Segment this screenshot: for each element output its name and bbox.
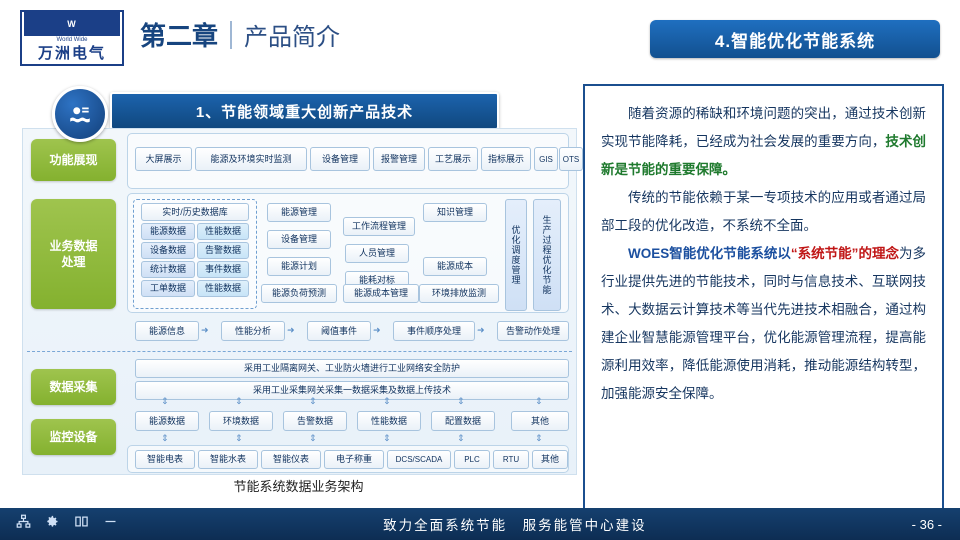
cell-device-manage-2[interactable]: 设备管理 [267, 230, 331, 249]
p1-text-a: 随着资源的稀缺和环境问题的突出，通过技术创新实现节能降耗，已经成为社会发展的重要… [601, 106, 926, 149]
cell-gis[interactable]: GIS [534, 147, 558, 171]
cell-optimize-dispatch[interactable]: 优化调度管理 [505, 199, 527, 311]
layer-label-device: 监控设备 [31, 419, 116, 455]
cell-energy-load-forecast[interactable]: 能源负荷预测 [261, 284, 337, 303]
left-section-banner-label: 1、节能领域重大创新产品技术 [196, 101, 413, 122]
cell-data-other[interactable]: 其他 [511, 411, 569, 431]
down-arrow-1: ⇕ [161, 434, 169, 443]
footer-icon-group [16, 514, 118, 534]
section-title-label: 4.智能优化节能系统 [715, 27, 875, 52]
down-arrow-3: ⇕ [309, 434, 317, 443]
cell-energy-plan[interactable]: 能源计划 [267, 257, 331, 276]
logo-mark: W [24, 12, 120, 36]
cell-knowledge-manage[interactable]: 知识管理 [423, 203, 487, 222]
network-icon[interactable] [16, 514, 31, 534]
cell-ots[interactable]: OTS [559, 147, 583, 171]
dashed-separator [27, 351, 572, 352]
cell-big-screen[interactable]: 大屏展示 [135, 147, 192, 171]
cell-db-event[interactable]: 事件数据 [197, 261, 249, 278]
left-section-banner: 1、节能领域重大创新产品技术 [110, 92, 499, 130]
paragraph-1: 随着资源的稀缺和环境问题的突出，通过技术创新实现节能降耗，已经成为社会发展的重要… [601, 100, 926, 184]
flow-arrow-1: ➜ [201, 326, 209, 335]
cell-db-perf-2[interactable]: 性能数据 [197, 280, 249, 297]
cell-electronic-scale[interactable]: 电子称重 [324, 450, 384, 469]
flow-arrow-3: ➜ [373, 326, 381, 335]
cell-event-sequence[interactable]: 事件顺序处理 [393, 321, 475, 341]
gear-icon[interactable] [45, 514, 60, 534]
logo-w-glyph: W [67, 20, 77, 29]
cell-db-workorder[interactable]: 工单数据 [141, 280, 195, 297]
paragraph-3: WOES智能优化节能系统以“系统节能”的理念为多行业提供先进的节能技术，同时与信… [601, 240, 926, 408]
breadcrumb: 第二章 产品简介 [140, 16, 340, 53]
down-arrow-4: ⇕ [383, 434, 391, 443]
layer-label-collect: 数据采集 [31, 369, 116, 405]
up-arrow-3: ⇕ [309, 397, 317, 406]
cell-data-energy[interactable]: 能源数据 [135, 411, 199, 431]
cell-data-perf[interactable]: 性能数据 [357, 411, 421, 431]
flow-arrow-4: ➜ [477, 326, 485, 335]
description-panel: 随着资源的稀缺和环境问题的突出，通过技术创新实现节能降耗，已经成为社会发展的重要… [583, 84, 944, 512]
down-arrow-5: ⇕ [457, 434, 465, 443]
diagram-caption: 节能系统数据业务架构 [22, 476, 575, 495]
logo-company-name: 万洲电气 [38, 44, 106, 64]
cell-energy-cost[interactable]: 能源成本 [423, 257, 487, 276]
footer-bar: 致力全面系统节能 服务能管中心建设 - 36 - [0, 508, 960, 540]
cell-perf-analysis[interactable]: 性能分析 [221, 321, 285, 341]
cell-energy-cost-manage[interactable]: 能源成本管理 [343, 284, 419, 303]
up-arrow-4: ⇕ [383, 397, 391, 406]
up-arrow-6: ⇕ [535, 397, 543, 406]
minus-icon[interactable] [103, 514, 118, 534]
logo-top-text: World Wide [57, 36, 88, 44]
cell-alarm-manage[interactable]: 报警管理 [373, 147, 425, 171]
cell-threshold-event[interactable]: 阈值事件 [307, 321, 371, 341]
cell-staff-manage[interactable]: 人员管理 [345, 244, 409, 263]
cell-energy-manage[interactable]: 能源管理 [267, 203, 331, 222]
down-arrow-2: ⇕ [235, 434, 243, 443]
cell-data-config[interactable]: 配置数据 [431, 411, 495, 431]
page-number: - 36 - [912, 517, 942, 532]
gear-badge-icon [52, 86, 108, 142]
cell-alarm-action[interactable]: 告警动作处理 [497, 321, 569, 341]
cell-data-env[interactable]: 环境数据 [209, 411, 273, 431]
cell-plc[interactable]: PLC [454, 450, 490, 469]
company-logo: W World Wide 万洲电气 [20, 10, 124, 66]
layer-label-business: 业务数据 处理 [31, 199, 116, 309]
cell-db-perf-1[interactable]: 性能数据 [197, 223, 249, 240]
cell-realtime-history-db[interactable]: 实时/历史数据库 [141, 203, 249, 221]
chapter-number: 第二章 [140, 16, 218, 53]
cell-dcs-scada[interactable]: DCS/SCADA [387, 450, 451, 469]
book-icon[interactable] [74, 514, 89, 534]
cell-smart-instrument[interactable]: 智能仪表 [261, 450, 321, 469]
divider [230, 21, 232, 49]
layer-label-function: 功能展现 [31, 139, 116, 181]
flow-arrow-2: ➜ [287, 326, 295, 335]
footer-slogan: 致力全面系统节能 服务能管中心建设 [118, 514, 912, 534]
collect-note-bar: 采用工业采集网关采集一数据采集及数据上传技术 [135, 381, 569, 400]
up-arrow-2: ⇕ [235, 397, 243, 406]
cell-process-display[interactable]: 工艺展示 [428, 147, 478, 171]
p3-text-a: WOES智能优化节能系统以 [628, 246, 791, 261]
p3-highlight: “系统节能”的理念 [791, 246, 899, 261]
up-arrow-1: ⇕ [161, 397, 169, 406]
chapter-subtitle: 产品简介 [244, 17, 340, 52]
paragraph-2: 传统的节能依赖于某一专项技术的应用或者通过局部工段的优化改造，不系统不全面。 [601, 184, 926, 240]
down-arrow-6: ⇕ [535, 434, 543, 443]
cell-production-optimize[interactable]: 生产过程优化节能 [533, 199, 561, 311]
up-arrow-5: ⇕ [457, 397, 465, 406]
cell-db-device[interactable]: 设备数据 [141, 242, 195, 259]
cell-db-stats[interactable]: 统计数据 [141, 261, 195, 278]
cell-energy-env-monitor[interactable]: 能源及环境实时监测 [195, 147, 307, 171]
cell-db-alarm[interactable]: 告警数据 [197, 242, 249, 259]
cell-smart-meter[interactable]: 智能电表 [135, 450, 195, 469]
cell-env-emission-monitor[interactable]: 环境排放监测 [419, 284, 499, 303]
cell-db-energy[interactable]: 能源数据 [141, 223, 195, 240]
cell-device-other[interactable]: 其他 [532, 450, 568, 469]
cell-workflow-manage[interactable]: 工作流程管理 [343, 217, 415, 236]
architecture-diagram: 功能展现 业务数据 处理 数据采集 监控设备 大屏展示 能源及环境实时监测 设备… [22, 128, 577, 475]
cell-data-alarm[interactable]: 告警数据 [283, 411, 347, 431]
cell-energy-info[interactable]: 能源信息 [135, 321, 199, 341]
security-note-bar: 采用工业隔离网关、工业防火墙进行工业网络安全防护 [135, 359, 569, 378]
cell-smart-water[interactable]: 智能水表 [198, 450, 258, 469]
section-title-badge: 4.智能优化节能系统 [650, 20, 940, 58]
cell-device-manage[interactable]: 设备管理 [310, 147, 370, 171]
p3-text-c: 为多行业提供先进的节能技术，同时与信息技术、互联网技术、大数据云计算技术等当代先… [601, 246, 926, 401]
cell-index-display[interactable]: 指标展示 [481, 147, 531, 171]
cell-rtu[interactable]: RTU [493, 450, 529, 469]
